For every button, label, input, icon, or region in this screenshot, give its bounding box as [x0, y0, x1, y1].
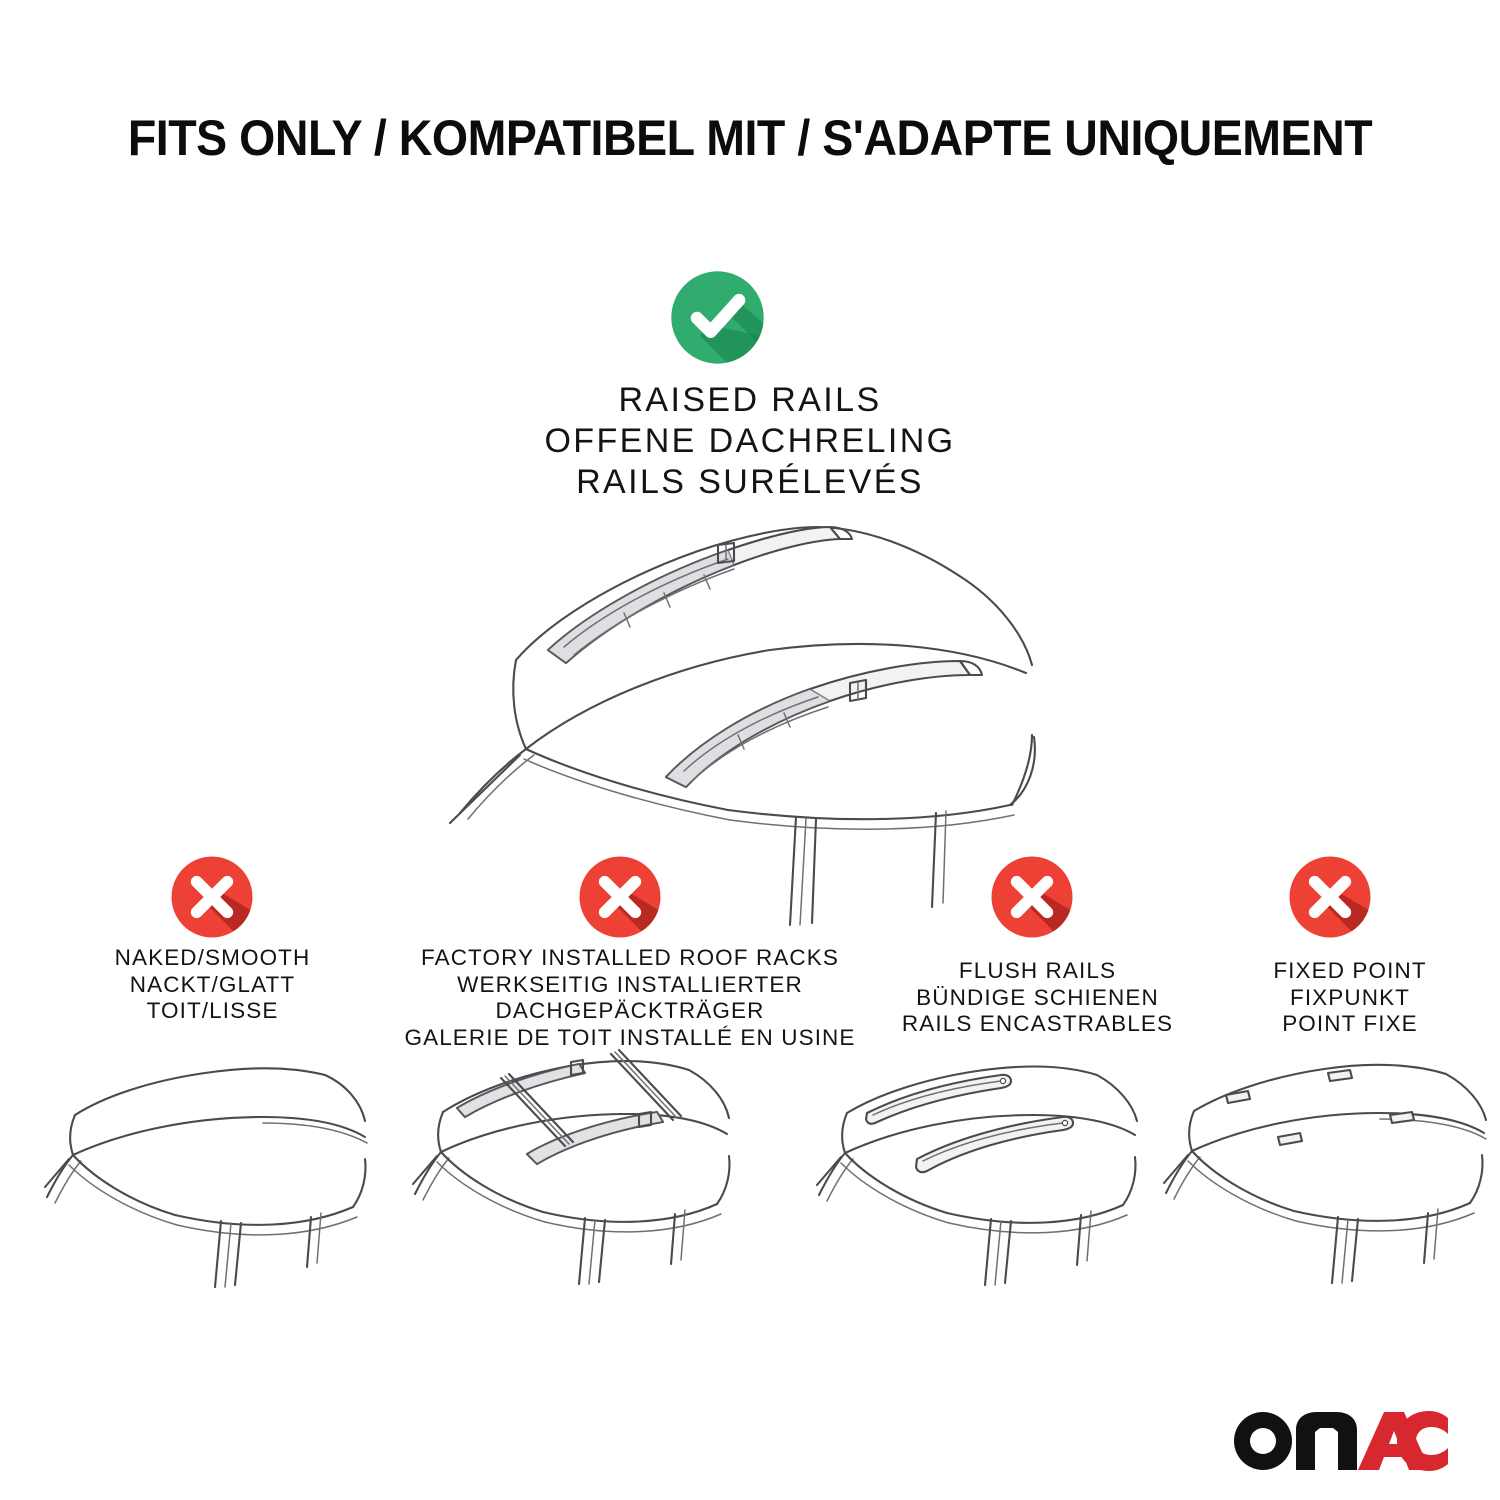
- label-line: GALERIE DE TOIT INSTALLÉ EN USINE: [395, 1025, 865, 1052]
- car-roof-with-fixed-points-illustration: [1180, 1055, 1500, 1275]
- label-line: RAILS ENCASTRABLES: [870, 1011, 1205, 1038]
- label-line: WERKSEITIG INSTALLIERTER: [395, 972, 865, 999]
- car-roof-with-raised-rails-illustration: [398, 505, 1088, 835]
- car-roof-with-factory-crossbars-illustration: [405, 1050, 765, 1280]
- x-circle-icon: [987, 852, 1077, 942]
- label-line: NAKED/SMOOTH: [40, 945, 385, 972]
- label-line: FIXPUNKT: [1210, 985, 1490, 1012]
- label-line: FIXED POINT: [1210, 958, 1490, 985]
- label-line: TOIT/LISSE: [40, 998, 385, 1025]
- x-circle-icon: [167, 852, 257, 942]
- label-line: FLUSH RAILS: [870, 958, 1205, 985]
- label-line: NACKT/GLATT: [40, 972, 385, 999]
- naked-smooth-label: NAKED/SMOOTH NACKT/GLATT TOIT/LISSE: [40, 945, 385, 1025]
- x-circle-icon: [575, 852, 665, 942]
- car-roof-with-flush-rails-illustration: [825, 1055, 1185, 1275]
- flush-rails-label: FLUSH RAILS BÜNDIGE SCHIENEN RAILS ENCAS…: [870, 958, 1205, 1038]
- check-circle-icon: [665, 265, 770, 370]
- factory-roof-racks-label: FACTORY INSTALLED ROOF RACKS WERKSEITIG …: [395, 945, 865, 1051]
- label-line: POINT FIXE: [1210, 1011, 1490, 1038]
- label-line: RAISED RAILS: [390, 380, 1110, 421]
- label-line: OFFENE DACHRELING: [390, 421, 1110, 462]
- page-title: FITS ONLY / KOMPATIBEL MIT / S'ADAPTE UN…: [53, 108, 1448, 168]
- label-line: DACHGEPÄCKTRÄGER: [395, 998, 865, 1025]
- raised-rails-label: RAISED RAILS OFFENE DACHRELING RAILS SUR…: [390, 380, 1110, 503]
- fixed-point-label: FIXED POINT FIXPUNKT POINT FIXE: [1210, 958, 1490, 1038]
- label-line: FACTORY INSTALLED ROOF RACKS: [395, 945, 865, 972]
- car-roof-bare-illustration: [45, 1055, 400, 1275]
- x-circle-icon: [1285, 852, 1375, 942]
- omac-logo: [1232, 1406, 1448, 1472]
- label-line: BÜNDIGE SCHIENEN: [870, 985, 1205, 1012]
- compatibility-infographic: FITS ONLY / KOMPATIBEL MIT / S'ADAPTE UN…: [0, 0, 1500, 1500]
- label-line: RAILS SURÉLEVÉS: [390, 462, 1110, 503]
